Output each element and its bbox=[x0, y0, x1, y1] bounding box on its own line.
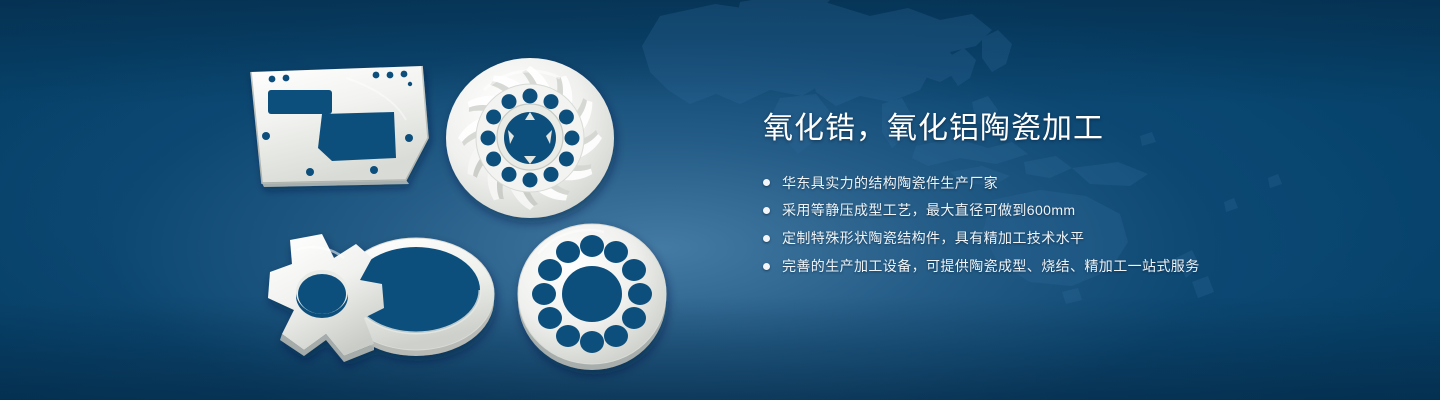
list-item-label: 定制特殊形状陶瓷结构件，具有精加工技术水平 bbox=[782, 229, 1084, 248]
product-ceramic-impeller bbox=[440, 48, 620, 226]
list-item: 华东具实力的结构陶瓷件生产厂家 bbox=[763, 174, 1403, 193]
product-image-group bbox=[0, 0, 760, 400]
bullet-dot-icon bbox=[763, 235, 770, 242]
banner-copy: 氧化锆，氧化铝陶瓷加工 华东具实力的结构陶瓷件生产厂家 采用等静压成型工艺，最大… bbox=[763, 110, 1403, 276]
list-item-label: 完善的生产加工设备，可提供陶瓷成型、烧结、精加工一站式服务 bbox=[782, 257, 1200, 276]
hero-banner: 氧化锆，氧化铝陶瓷加工 华东具实力的结构陶瓷件生产厂家 采用等静压成型工艺，最大… bbox=[0, 0, 1440, 400]
product-ceramic-hole-disc bbox=[512, 218, 672, 373]
list-item-label: 华东具实力的结构陶瓷件生产厂家 bbox=[782, 174, 998, 193]
list-item: 定制特殊形状陶瓷结构件，具有精加工技术水平 bbox=[763, 229, 1403, 248]
list-item: 采用等静压成型工艺，最大直径可做到600mm bbox=[763, 201, 1403, 220]
list-item-label: 采用等静压成型工艺，最大直径可做到600mm bbox=[782, 201, 1075, 220]
feature-list: 华东具实力的结构陶瓷件生产厂家 采用等静压成型工艺，最大直径可做到600mm 定… bbox=[763, 174, 1403, 277]
product-ceramic-cross-and-ring bbox=[248, 222, 513, 362]
page-title: 氧化锆，氧化铝陶瓷加工 bbox=[763, 110, 1403, 148]
bullet-dot-icon bbox=[763, 179, 770, 186]
product-ceramic-plate bbox=[246, 62, 436, 187]
list-item: 完善的生产加工设备，可提供陶瓷成型、烧结、精加工一站式服务 bbox=[763, 257, 1403, 276]
bullet-dot-icon bbox=[763, 263, 770, 270]
bullet-dot-icon bbox=[763, 207, 770, 214]
